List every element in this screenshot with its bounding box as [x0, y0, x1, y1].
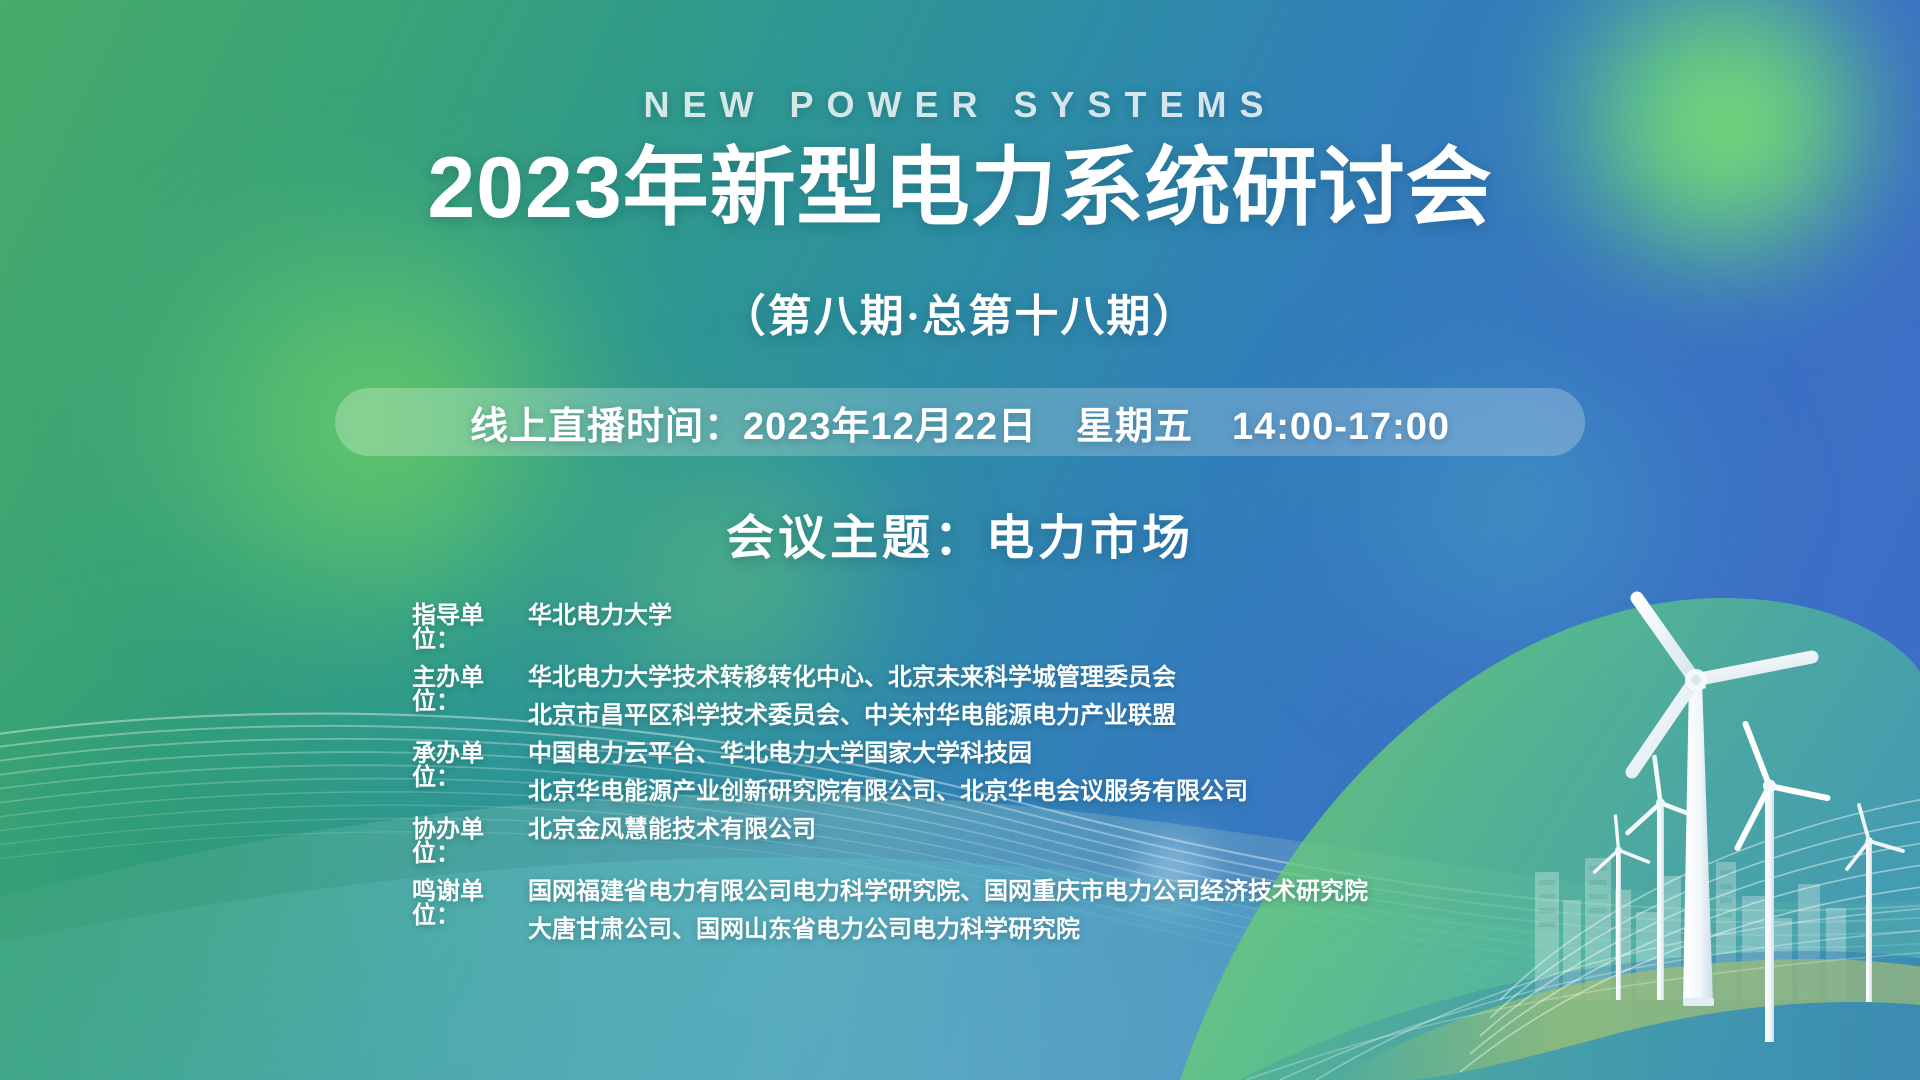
- page-title: 2023年新型电力系统研讨会: [0, 138, 1920, 239]
- org-row-host: 主办单位： 华北电力大学技术转移转化中心、北京未来科学城管理委员会 北京市昌平区…: [412, 666, 1368, 728]
- org-values: 国网福建省电力有限公司电力科学研究院、国网重庆市电力公司经济技术研究院 大唐甘肃…: [528, 880, 1368, 942]
- org-label: 承办单位：: [412, 742, 528, 790]
- page-subtitle: （第八期·总第十八期）: [0, 280, 1920, 344]
- event-poster: NEW POWER SYSTEMS 2023年新型电力系统研讨会 （第八期·总第…: [0, 0, 1920, 1080]
- eyebrow-text: NEW POWER SYSTEMS: [0, 84, 1920, 126]
- org-row-organizer: 承办单位： 中国电力云平台、华北电力大学国家大学科技园 北京华电能源产业创新研究…: [412, 742, 1368, 804]
- org-value: 北京华电能源产业创新研究院有限公司、北京华电会议服务有限公司: [528, 780, 1248, 804]
- org-value: 华北电力大学: [528, 604, 672, 628]
- org-label: 鸣谢单位：: [412, 880, 528, 928]
- org-values: 中国电力云平台、华北电力大学国家大学科技园 北京华电能源产业创新研究院有限公司、…: [528, 742, 1248, 804]
- conference-theme: 会议主题：电力市场: [0, 498, 1920, 568]
- live-time-banner: 线上直播时间：2023年12月22日 星期五 14:00-17:00: [335, 388, 1585, 456]
- org-value: 大唐甘肃公司、国网山东省电力公司电力科学研究院: [528, 918, 1368, 942]
- org-values: 华北电力大学技术转移转化中心、北京未来科学城管理委员会 北京市昌平区科学技术委员…: [528, 666, 1176, 728]
- org-label: 协办单位：: [412, 818, 528, 866]
- org-values: 北京金风慧能技术有限公司: [528, 818, 816, 842]
- org-value: 国网福建省电力有限公司电力科学研究院、国网重庆市电力公司经济技术研究院: [528, 880, 1368, 904]
- org-value: 中国电力云平台、华北电力大学国家大学科技园: [528, 742, 1248, 766]
- org-row-co-organizer: 协办单位： 北京金风慧能技术有限公司: [412, 818, 1368, 866]
- org-label: 主办单位：: [412, 666, 528, 714]
- org-value: 北京市昌平区科学技术委员会、中关村华电能源电力产业联盟: [528, 704, 1176, 728]
- org-label: 指导单位：: [412, 604, 528, 652]
- live-time-text: 线上直播时间：2023年12月22日 星期五 14:00-17:00: [470, 395, 1450, 450]
- org-value: 华北电力大学技术转移转化中心、北京未来科学城管理委员会: [528, 666, 1176, 690]
- organization-list: 指导单位： 华北电力大学 主办单位： 华北电力大学技术转移转化中心、北京未来科学…: [412, 604, 1368, 956]
- org-row-guidance: 指导单位： 华北电力大学: [412, 604, 1368, 652]
- org-value: 北京金风慧能技术有限公司: [528, 818, 816, 842]
- org-values: 华北电力大学: [528, 604, 672, 628]
- org-row-acknowledgement: 鸣谢单位： 国网福建省电力有限公司电力科学研究院、国网重庆市电力公司经济技术研究…: [412, 880, 1368, 942]
